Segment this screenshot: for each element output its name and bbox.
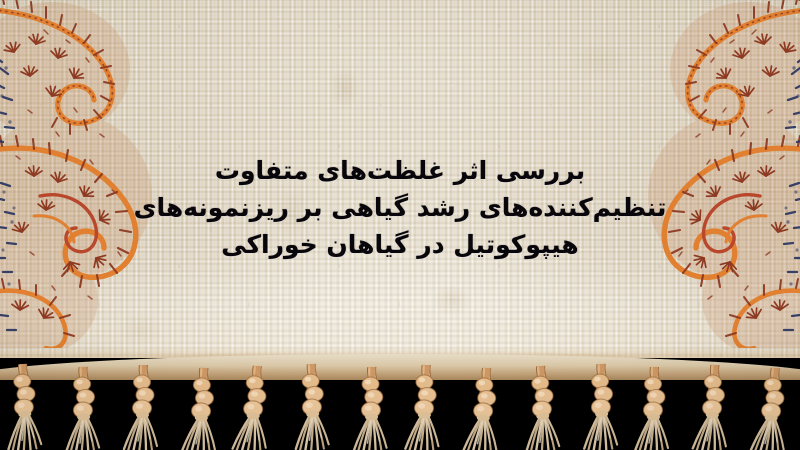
tassel [229, 365, 281, 450]
tassel [289, 363, 339, 450]
tassel [179, 367, 228, 450]
tassel [748, 367, 800, 450]
tassel [402, 365, 449, 450]
tassel [460, 367, 510, 450]
slide-title: بررسی اثر غلظت‌های متفاوت تنظیم‌کننده‌ها… [0, 152, 800, 263]
tassel [121, 365, 167, 450]
title-line-3: هیپوکوتیل در گیاهان خوراکی [0, 226, 800, 263]
tassel [350, 367, 397, 450]
tassel-fringe [0, 358, 800, 450]
slide-canvas: بررسی اثر غلظت‌های متفاوت تنظیم‌کننده‌ها… [0, 0, 800, 450]
tassel [632, 367, 678, 450]
tassel [0, 363, 51, 450]
title-line-1: بررسی اثر غلظت‌های متفاوت [0, 152, 800, 189]
tassel [579, 363, 628, 450]
tassel [518, 365, 570, 450]
title-line-2: تنظیم‌کننده‌های رشد گیاهی بر ریزنمونه‌ها… [0, 189, 800, 226]
tassel [690, 364, 739, 450]
tassel [60, 366, 109, 450]
